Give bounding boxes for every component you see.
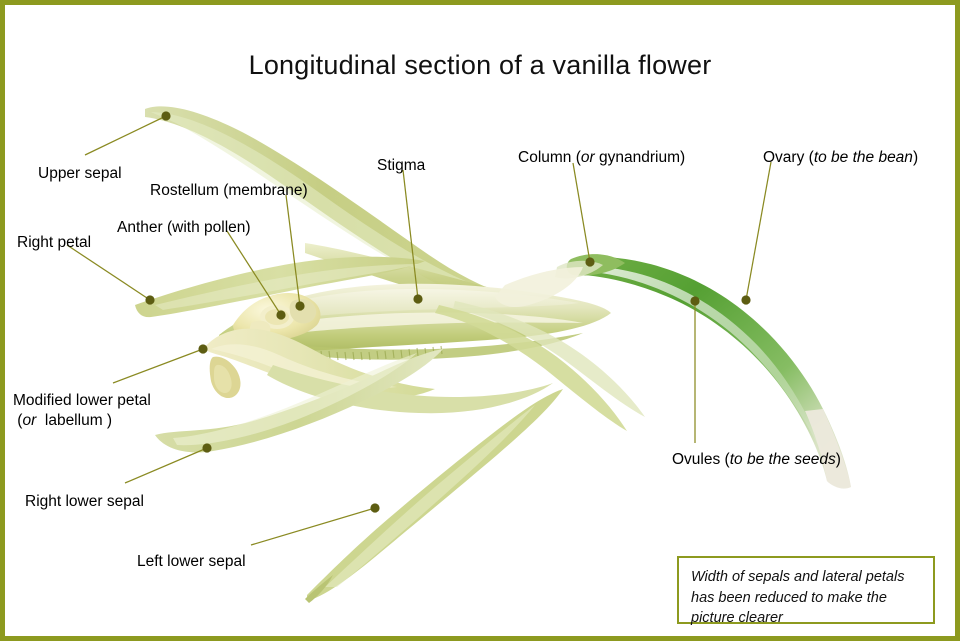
dot-column — [585, 257, 594, 266]
leader-rostellum — [286, 195, 300, 306]
label-ovary: Ovary (to be the bean) — [763, 148, 918, 168]
leader-stigma — [403, 170, 418, 299]
dot-rostellum — [295, 301, 304, 310]
leader-upper-sepal — [85, 116, 166, 155]
dot-ovary — [741, 295, 750, 304]
label-modified-lower-petal: Modified lower petal (or labellum ) — [13, 391, 151, 432]
label-ovules: Ovules (to be the seeds) — [672, 450, 841, 470]
dot-labellum — [198, 344, 207, 353]
diagram-page: Longitudinal section of a vanilla flower — [0, 0, 960, 641]
dot-anther — [276, 310, 285, 319]
note-line-3: picture clearer — [691, 608, 922, 629]
dot-right-lower-sepal — [202, 443, 211, 452]
leader-lines — [5, 5, 960, 641]
dot-ovules — [690, 296, 699, 305]
leader-anther — [227, 231, 281, 315]
label-anther: Anther (with pollen) — [117, 218, 251, 238]
label-left-lower-sepal: Left lower sepal — [137, 552, 246, 572]
dot-stigma — [413, 294, 422, 303]
label-right-lower-sepal: Right lower sepal — [25, 492, 144, 512]
dot-left-lower-sepal — [370, 503, 379, 512]
dot-upper-sepal — [161, 111, 170, 120]
label-right-petal: Right petal — [17, 233, 91, 253]
dot-right-petal — [145, 295, 154, 304]
leader-right-lower-sepal — [125, 448, 207, 483]
label-rostellum: Rostellum (membrane) — [150, 181, 308, 201]
leader-ovary — [746, 162, 771, 300]
leader-column — [573, 163, 590, 262]
label-stigma: Stigma — [377, 156, 425, 176]
leader-labellum — [113, 349, 203, 383]
note-line-1: Width of sepals and lateral petals — [691, 567, 922, 588]
leader-left-lower-sepal — [251, 508, 375, 545]
label-upper-sepal: Upper sepal — [38, 164, 122, 184]
note-line-2: has been reduced to make the — [691, 588, 922, 609]
label-column: Column (or gynandrium) — [518, 148, 685, 168]
note-box: Width of sepals and lateral petals has b… — [677, 556, 935, 624]
